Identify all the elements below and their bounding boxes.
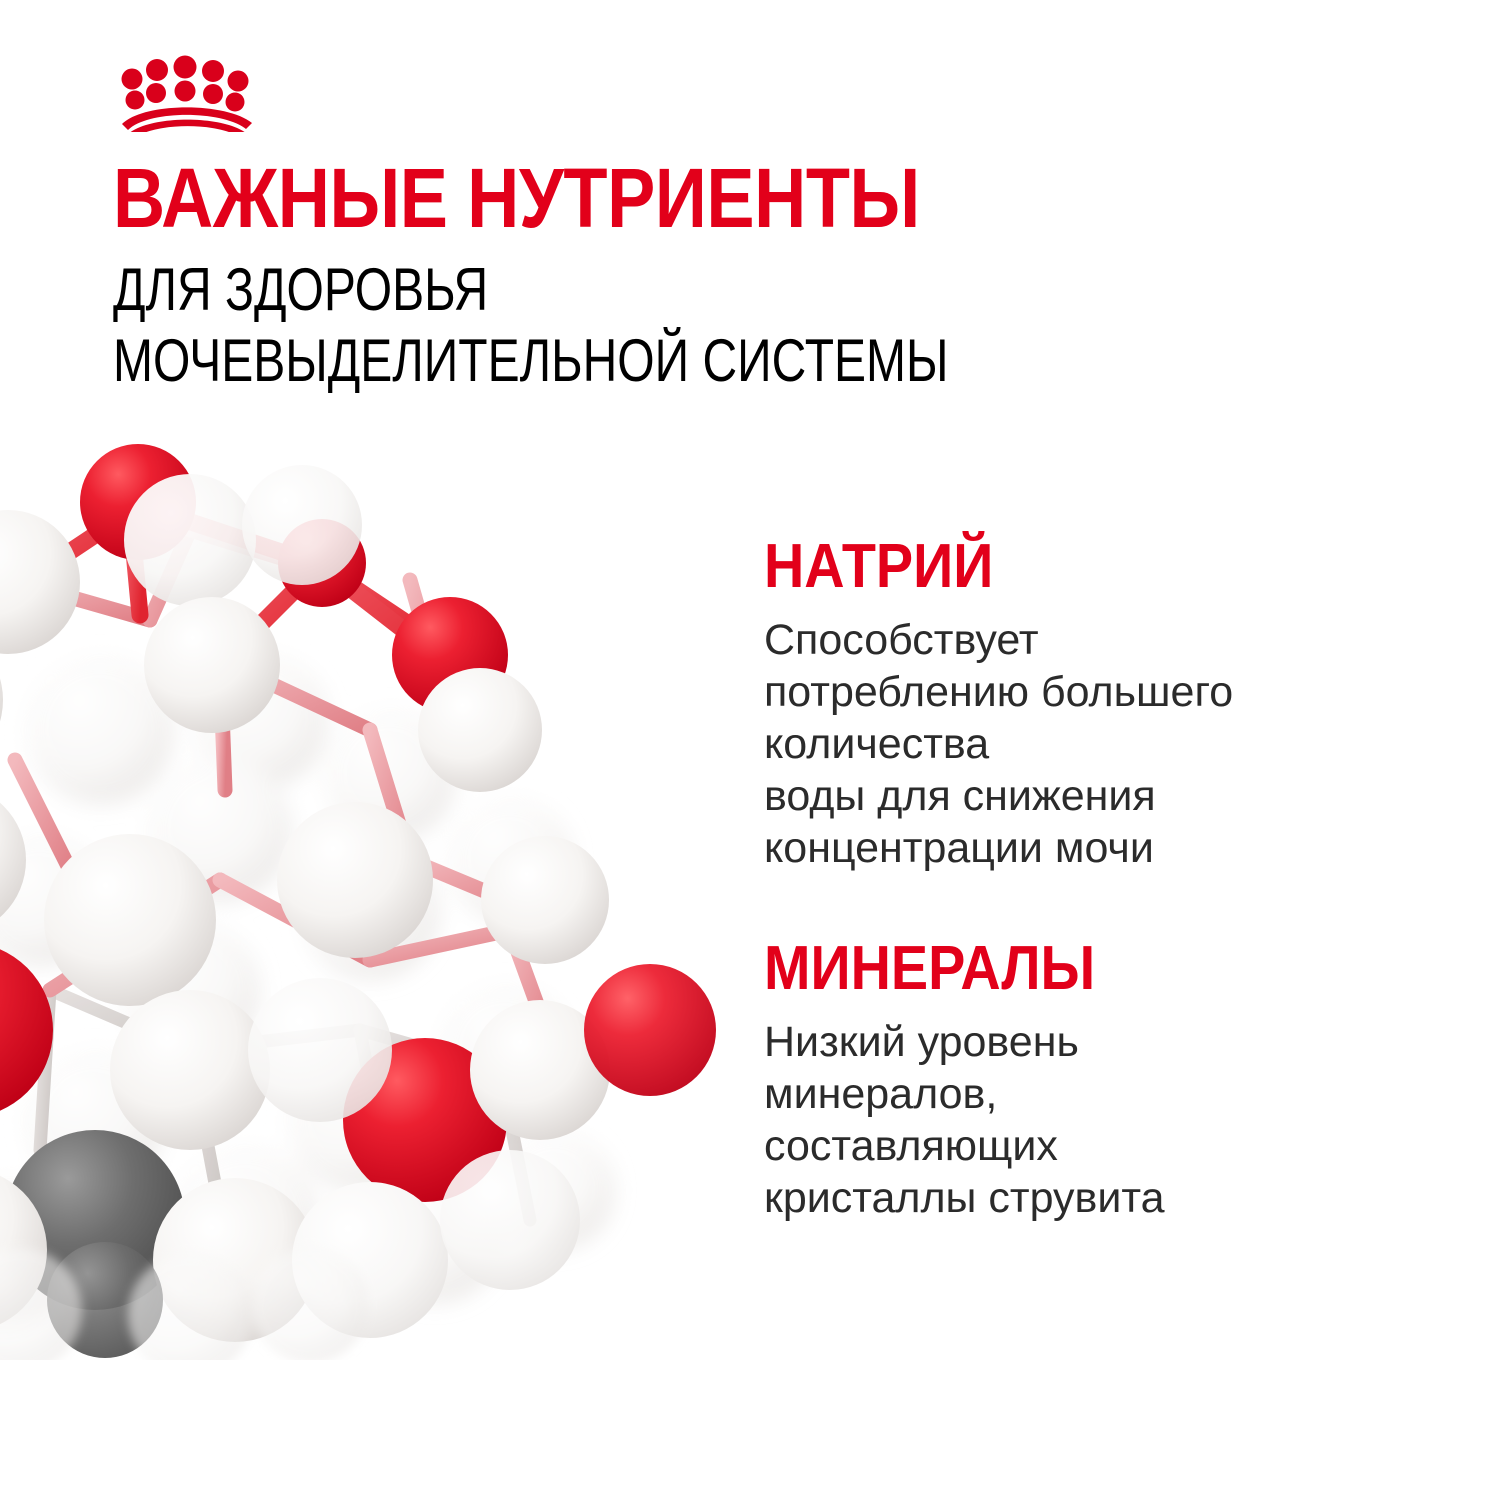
headline-main: ВАЖНЫЕ НУТРИЕНТЫ (113, 160, 973, 237)
nutrient-block-minerals: МИНЕРАЛЫ Низкий уровень минералов, соста… (764, 938, 1424, 1224)
nutrient-line: воды для снижения (764, 770, 1424, 822)
nutrient-line: составляющих (764, 1120, 1424, 1172)
nutrient-line: минералов, (764, 1068, 1424, 1120)
headline-sub-line-1: ДЛЯ ЗДОРОВЬЯ (113, 255, 913, 326)
royal-canin-crown-icon (112, 52, 262, 132)
nutrient-title-sodium: НАТРИЙ (764, 536, 1358, 598)
poster-canvas: ВАЖНЫЕ НУТРИЕНТЫ ДЛЯ ЗДОРОВЬЯ МОЧЕВЫДЕЛИ… (0, 0, 1500, 1500)
nutrient-list: НАТРИЙ Способствует потреблению большего… (764, 536, 1424, 1224)
nutrient-description-minerals: Низкий уровень минералов, составляющих к… (764, 1016, 1424, 1224)
nutrient-title-minerals: МИНЕРАЛЫ (764, 938, 1358, 1000)
nutrient-line: потреблению большего (764, 666, 1424, 718)
molecule-model-illustration (0, 430, 720, 1360)
nutrient-line: Способствует (764, 614, 1424, 666)
nutrient-description-sodium: Способствует потреблению большего количе… (764, 614, 1424, 874)
nutrient-line: количества (764, 718, 1424, 770)
nutrient-line: кристаллы струвита (764, 1172, 1424, 1224)
nutrient-block-sodium: НАТРИЙ Способствует потреблению большего… (764, 536, 1424, 874)
page-title: ВАЖНЫЕ НУТРИЕНТЫ ДЛЯ ЗДОРОВЬЯ МОЧЕВЫДЕЛИ… (113, 160, 1113, 397)
headline-sub-line-2: МОЧЕВЫДЕЛИТЕЛЬНОЙ СИСТЕМЫ (113, 326, 913, 397)
nutrient-line: концентрации мочи (764, 822, 1424, 874)
nutrient-line: Низкий уровень (764, 1016, 1424, 1068)
